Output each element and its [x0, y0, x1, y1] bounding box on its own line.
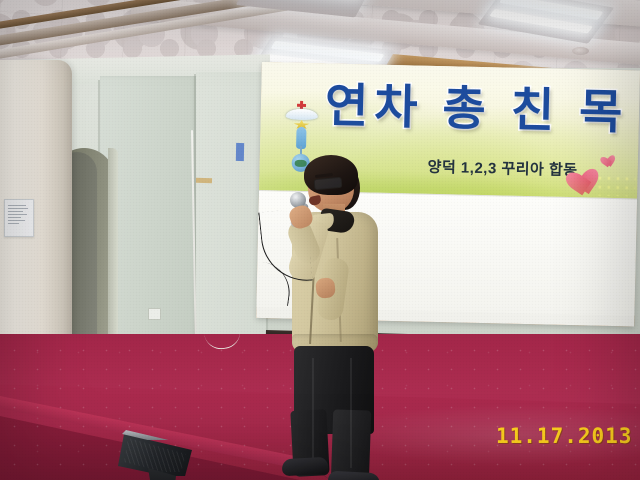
camera-date-stamp: 11.17.2013	[496, 424, 632, 448]
pant-crease	[312, 358, 314, 468]
stage-monitor-speaker	[118, 428, 192, 480]
arched-doorway-edge	[108, 148, 118, 360]
photograph: 연차 총 친 목 양덕 1,2,3 꾸리아 합동	[0, 0, 640, 480]
wall-power-outlet	[148, 308, 161, 320]
tape-patch	[196, 178, 212, 184]
heart-icon	[557, 159, 591, 191]
banner-title: 연차 총 친 목	[325, 81, 629, 135]
dove-icon	[286, 109, 318, 121]
sparkle-decoration	[595, 174, 635, 197]
heart-icon	[597, 151, 612, 165]
banner-subtitle: 양덕 1,2,3 꾸리아 합동	[427, 156, 577, 180]
blue-tape-patch	[236, 143, 244, 161]
wall-notice-paper	[4, 199, 34, 237]
person-singing	[268, 158, 394, 464]
smoke-detector-icon	[572, 47, 589, 55]
left-shoe	[282, 457, 329, 476]
pant-crease	[350, 358, 352, 468]
